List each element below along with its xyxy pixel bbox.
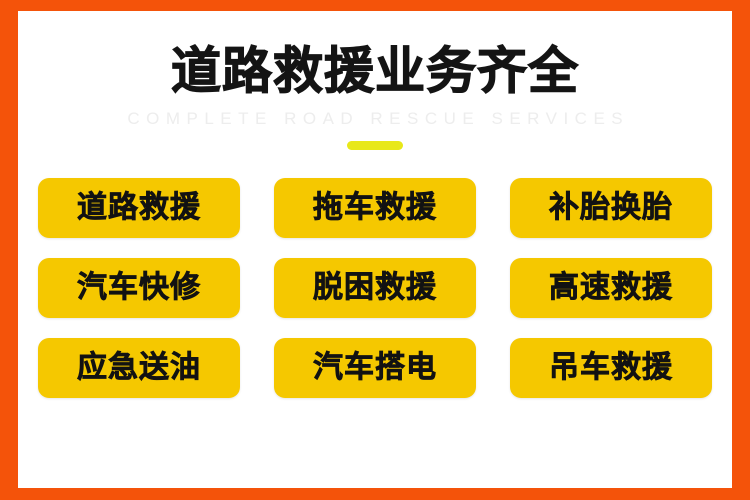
service-button-tire-repair-replace[interactable]: 补胎换胎 [510, 178, 712, 238]
service-button-quick-car-repair[interactable]: 汽车快修 [38, 258, 240, 318]
service-button-grid: 道路救援 拖车救援 补胎换胎 汽车快修 脱困救援 高速救援 应急送油 汽车搭电 [38, 178, 712, 398]
page-subtitle: COMPLETE ROAD RESCUE SERVICES [18, 109, 732, 129]
page-title: 道路救援业务齐全 [18, 45, 732, 98]
service-button-crane-rescue[interactable]: 吊车救援 [510, 338, 712, 398]
service-button-label: 吊车救援 [549, 353, 673, 383]
service-button-extrication-rescue[interactable]: 脱困救援 [274, 258, 476, 318]
service-button-label: 高速救援 [549, 273, 673, 303]
poster-content: 道路救援业务齐全 COMPLETE ROAD RESCUE SERVICES 道… [18, 11, 732, 488]
service-button-label: 脱困救援 [313, 273, 437, 303]
service-button-label: 补胎换胎 [549, 193, 673, 223]
accent-bar [347, 141, 403, 150]
header: 道路救援业务齐全 COMPLETE ROAD RESCUE SERVICES [18, 11, 732, 150]
service-button-tow-rescue[interactable]: 拖车救援 [274, 178, 476, 238]
service-button-highway-rescue[interactable]: 高速救援 [510, 258, 712, 318]
service-button-road-rescue[interactable]: 道路救援 [38, 178, 240, 238]
service-button-jump-start[interactable]: 汽车搭电 [274, 338, 476, 398]
service-button-label: 汽车快修 [77, 273, 201, 303]
service-button-label: 应急送油 [77, 353, 201, 383]
service-button-label: 拖车救援 [313, 193, 437, 223]
service-button-emergency-fuel-delivery[interactable]: 应急送油 [38, 338, 240, 398]
poster-frame: 道路救援业务齐全 COMPLETE ROAD RESCUE SERVICES 道… [0, 0, 750, 500]
service-button-label: 汽车搭电 [313, 353, 437, 383]
service-button-label: 道路救援 [77, 193, 201, 223]
